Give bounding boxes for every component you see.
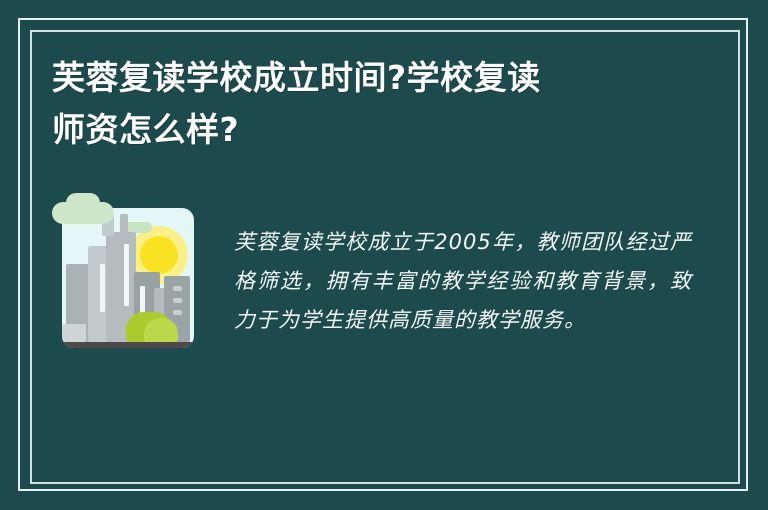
illustration-card <box>62 208 194 348</box>
page-title-line-1: 芙蓉复读学校成立时间?学校复读 <box>52 52 692 104</box>
city-skyline-illustration <box>52 200 204 360</box>
window-stripe-2 <box>124 244 129 306</box>
window-dot-2 <box>173 298 182 303</box>
page-title-line-2: 师资怎么样? <box>52 104 692 156</box>
cloud-large-icon <box>52 202 114 224</box>
content-row: 芙蓉复读学校成立于2005年，教师团队经过严格筛选，拥有丰富的教学经验和教育背景… <box>52 200 692 361</box>
window-dot-1 <box>173 286 182 291</box>
page-title: 芙蓉复读学校成立时间?学校复读 师资怎么样? <box>52 52 692 156</box>
window-dot-3 <box>173 310 182 315</box>
building-7 <box>62 324 86 342</box>
page-root: { "theme": { "background": "#1d4a4c", "f… <box>0 0 768 510</box>
sun-icon <box>140 236 178 274</box>
body-paragraph: 芙蓉复读学校成立于2005年，教师团队经过严格筛选，拥有丰富的教学经验和教育背景… <box>234 221 692 340</box>
bush-highlight-icon <box>144 318 178 342</box>
window-stripe-1 <box>100 264 105 312</box>
ground-bar <box>62 342 194 348</box>
